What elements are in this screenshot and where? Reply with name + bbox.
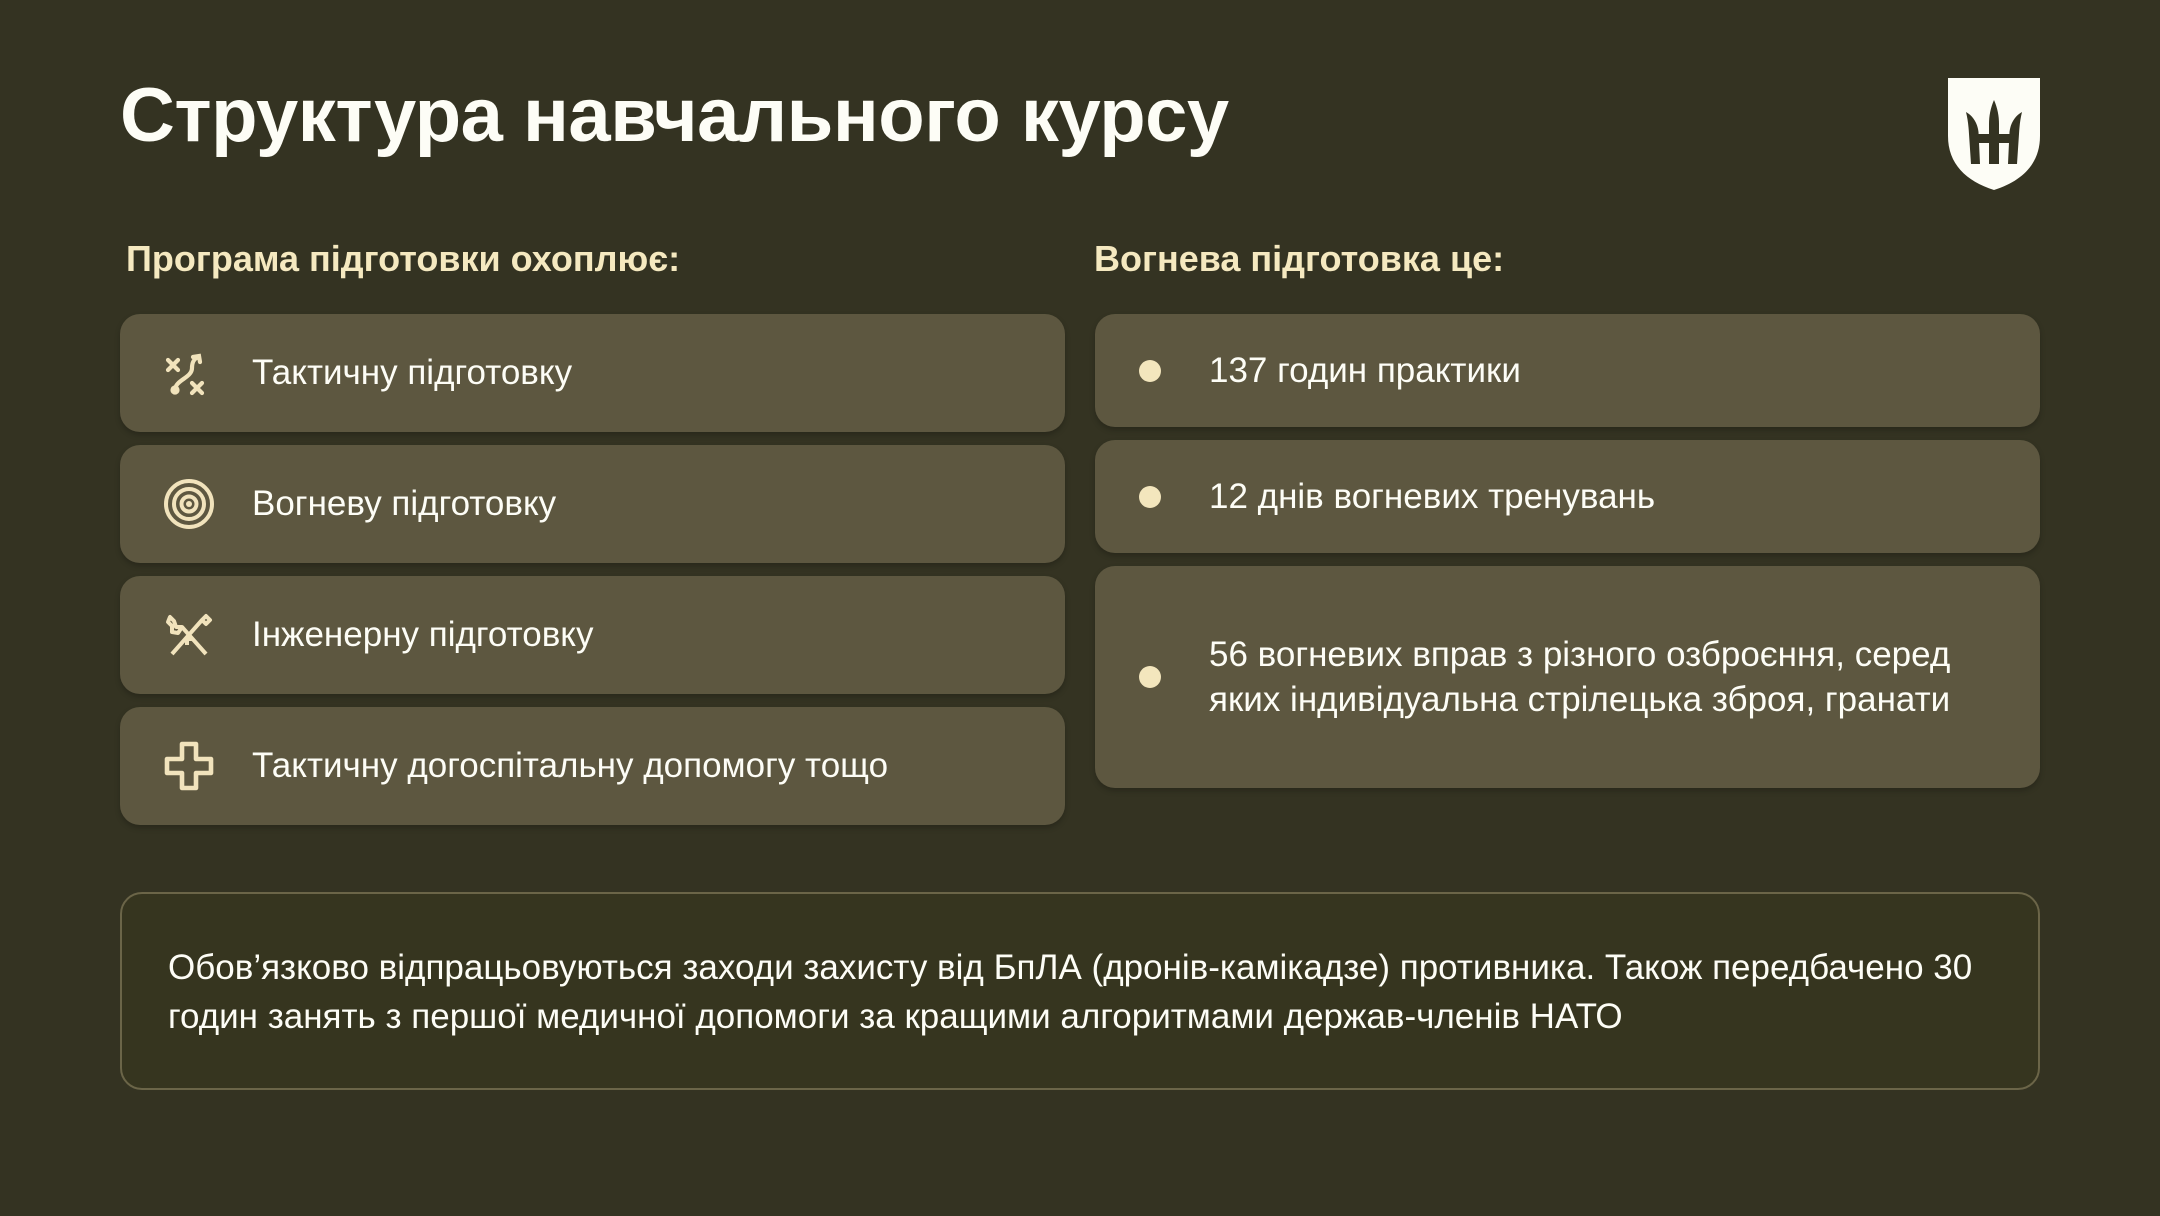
list-item[interactable]: 137 годин практики [1095, 314, 2040, 427]
list-item-label: 137 годин практики [1209, 348, 1521, 394]
footer-note-card: Обов’язково відпрацьовуються заходи захи… [120, 892, 2040, 1090]
list-item-label: Вогневу підготовку [252, 483, 556, 524]
footer-note-text: Обов’язково відпрацьовуються заходи захи… [168, 943, 1996, 1041]
header: Структура навчального курсу [120, 78, 2040, 198]
list-item-label: Тактичну підготовку [252, 352, 572, 393]
list-item-label: Тактичну догоспітальну допомогу тощо [252, 745, 888, 786]
right-column-list: 137 годин практики 12 днів вогневих трен… [1095, 314, 2040, 825]
list-item[interactable]: Вогневу підготовку [120, 445, 1065, 563]
columns-body: Тактичну підготовку Вогневу [120, 314, 2040, 825]
crossed-tools-engineering-icon [160, 606, 218, 664]
list-item[interactable]: Інженерну підготовку [120, 576, 1065, 694]
infographic-page: Структура навчального курсу Програма під… [0, 0, 2160, 1216]
left-column-list: Тактичну підготовку Вогневу [120, 314, 1065, 825]
target-bullseye-icon [160, 475, 218, 533]
medical-cross-icon [160, 737, 218, 795]
page-title: Структура навчального курсу [120, 78, 2040, 154]
two-column-section: Програма підготовки охоплює: Вогнева під… [120, 238, 2040, 825]
tactical-strategy-icon [160, 344, 218, 402]
list-item[interactable]: Тактичну підготовку [120, 314, 1065, 432]
list-item-label: 12 днів вогневих тренувань [1209, 474, 1655, 520]
bullet-dot-icon [1139, 666, 1161, 688]
list-item[interactable]: 56 вогневих вправ з різного озброєння, с… [1095, 566, 2040, 788]
bullet-dot-icon [1139, 360, 1161, 382]
bullet-dot-icon [1139, 486, 1161, 508]
right-column-heading: Вогнева підготовка це: [1094, 238, 1504, 280]
list-item[interactable]: 12 днів вогневих тренувань [1095, 440, 2040, 553]
list-item-label: 56 вогневих вправ з різного озброєння, с… [1209, 632, 2000, 723]
list-item[interactable]: Тактичну догоспітальну допомогу тощо [120, 707, 1065, 825]
ukrainian-trident-shield-emblem [1948, 78, 2040, 190]
column-headings: Програма підготовки охоплює: Вогнева під… [120, 238, 2040, 300]
list-item-label: Інженерну підготовку [252, 614, 594, 655]
left-column-heading: Програма підготовки охоплює: [126, 238, 680, 280]
